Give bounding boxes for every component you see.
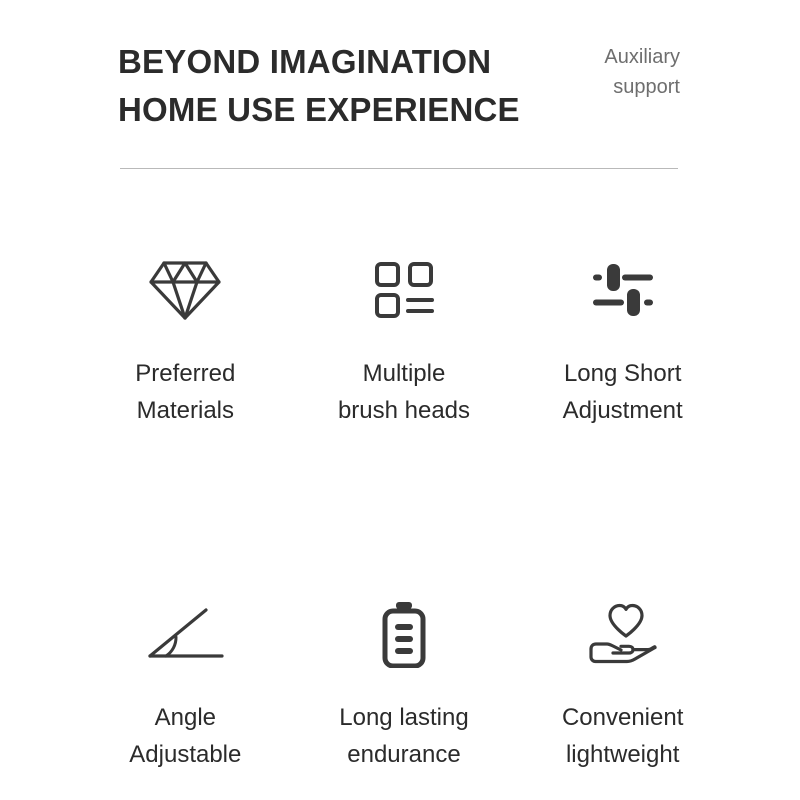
page-title: BEYOND IMAGINATION HOME USE EXPERIENCE xyxy=(118,38,520,134)
feature-item: Long lasting endurance xyxy=(295,594,514,773)
feature-label-line-1: Convenient xyxy=(562,699,683,736)
feature-label: Multiple brush heads xyxy=(338,355,470,429)
feature-label: Convenient lightweight xyxy=(562,699,683,773)
feature-label-line-1: Angle xyxy=(129,699,241,736)
feature-highlights-page: BEYOND IMAGINATION HOME USE EXPERIENCE A… xyxy=(0,0,800,800)
angle-icon xyxy=(144,594,226,674)
page-header: BEYOND IMAGINATION HOME USE EXPERIENCE A… xyxy=(118,38,680,134)
header-divider xyxy=(120,168,678,169)
battery-icon xyxy=(381,594,427,674)
page-title-line-1: BEYOND IMAGINATION xyxy=(118,38,520,86)
auxiliary-support-note: Auxiliary support xyxy=(604,38,680,102)
feature-label-line-2: Materials xyxy=(135,392,235,429)
feature-label-line-1: Multiple xyxy=(338,355,470,392)
feature-item: Angle Adjustable xyxy=(76,594,295,773)
feature-label: Long lasting endurance xyxy=(339,699,468,773)
grid-list-icon xyxy=(374,250,434,330)
feature-label-line-2: Adjustment xyxy=(563,392,683,429)
hand-heart-icon xyxy=(585,594,661,674)
feature-grid: Preferred Materials Multiple brush heads xyxy=(76,250,732,773)
feature-label-line-2: lightweight xyxy=(562,736,683,773)
page-title-line-2: HOME USE EXPERIENCE xyxy=(118,86,520,134)
feature-label-line-1: Long Short xyxy=(563,355,683,392)
feature-item: Convenient lightweight xyxy=(513,594,732,773)
auxiliary-support-line-1: Auxiliary xyxy=(604,42,680,72)
sliders-icon xyxy=(591,250,655,330)
feature-label-line-2: endurance xyxy=(339,736,468,773)
feature-item: Multiple brush heads xyxy=(295,250,514,429)
feature-item: Long Short Adjustment xyxy=(513,250,732,429)
feature-label: Angle Adjustable xyxy=(129,699,241,773)
feature-label-line-2: Adjustable xyxy=(129,736,241,773)
feature-label-line-2: brush heads xyxy=(338,392,470,429)
feature-item: Preferred Materials xyxy=(76,250,295,429)
diamond-icon xyxy=(147,250,223,330)
auxiliary-support-line-2: support xyxy=(604,72,680,102)
feature-label-line-1: Preferred xyxy=(135,355,235,392)
feature-label: Long Short Adjustment xyxy=(563,355,683,429)
feature-label: Preferred Materials xyxy=(135,355,235,429)
feature-label-line-1: Long lasting xyxy=(339,699,468,736)
